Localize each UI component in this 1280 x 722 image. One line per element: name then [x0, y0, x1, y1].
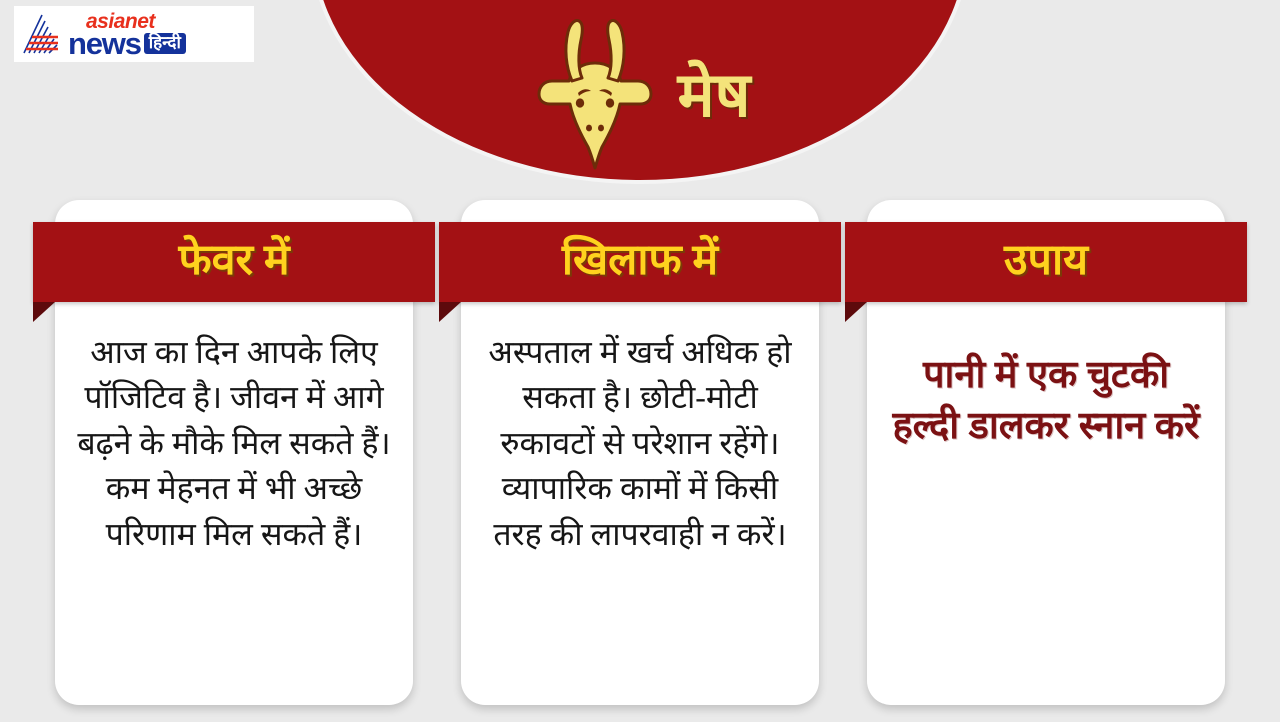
- header-dome-background: [310, 0, 970, 184]
- banner-fold-shape: [439, 302, 461, 322]
- logo-word-news: news: [68, 30, 141, 58]
- card-against: खिलाफ में अस्पताल में खर्च अधिक हो सकता …: [461, 200, 819, 705]
- card-against-text: अस्पताल में खर्च अधिक हो सकता है। छोटी-म…: [479, 330, 801, 557]
- asianet-news-logo: asianet news हिन्दी: [14, 6, 254, 62]
- card-remedy-title: उपाय: [1004, 239, 1088, 286]
- horoscope-cards-row: फेवर में आज का दिन आपके लिए पॉजिटिव है। …: [0, 200, 1280, 710]
- card-against-title: खिलाफ में: [562, 239, 718, 286]
- banner-fold-shape: [845, 302, 867, 322]
- banner-fold-shape: [33, 302, 55, 322]
- card-favour-banner: फेवर में: [33, 222, 435, 308]
- card-favour-title: फेवर में: [178, 239, 289, 286]
- card-favour-text: आज का दिन आपके लिए पॉजिटिव है। जीवन में …: [73, 330, 395, 557]
- card-remedy-body: पानी में एक चुटकी हल्दी डालकर स्नान करें: [867, 350, 1225, 470]
- card-remedy-text: पानी में एक चुटकी हल्दी डालकर स्नान करें: [885, 350, 1207, 452]
- card-remedy-banner: उपाय: [845, 222, 1247, 308]
- asianet-logo-mark-icon: [18, 12, 66, 56]
- card-favour: फेवर में आज का दिन आपके लिए पॉजिटिव है। …: [55, 200, 413, 705]
- card-against-banner: खिलाफ में: [439, 222, 841, 308]
- card-favour-body: आज का दिन आपके लिए पॉजिटिव है। जीवन में …: [55, 330, 413, 575]
- card-against-body: अस्पताल में खर्च अधिक हो सकता है। छोटी-म…: [461, 330, 819, 575]
- card-remedy: उपाय पानी में एक चुटकी हल्दी डालकर स्नान…: [867, 200, 1225, 705]
- logo-word-hindi: हिन्दी: [144, 33, 186, 54]
